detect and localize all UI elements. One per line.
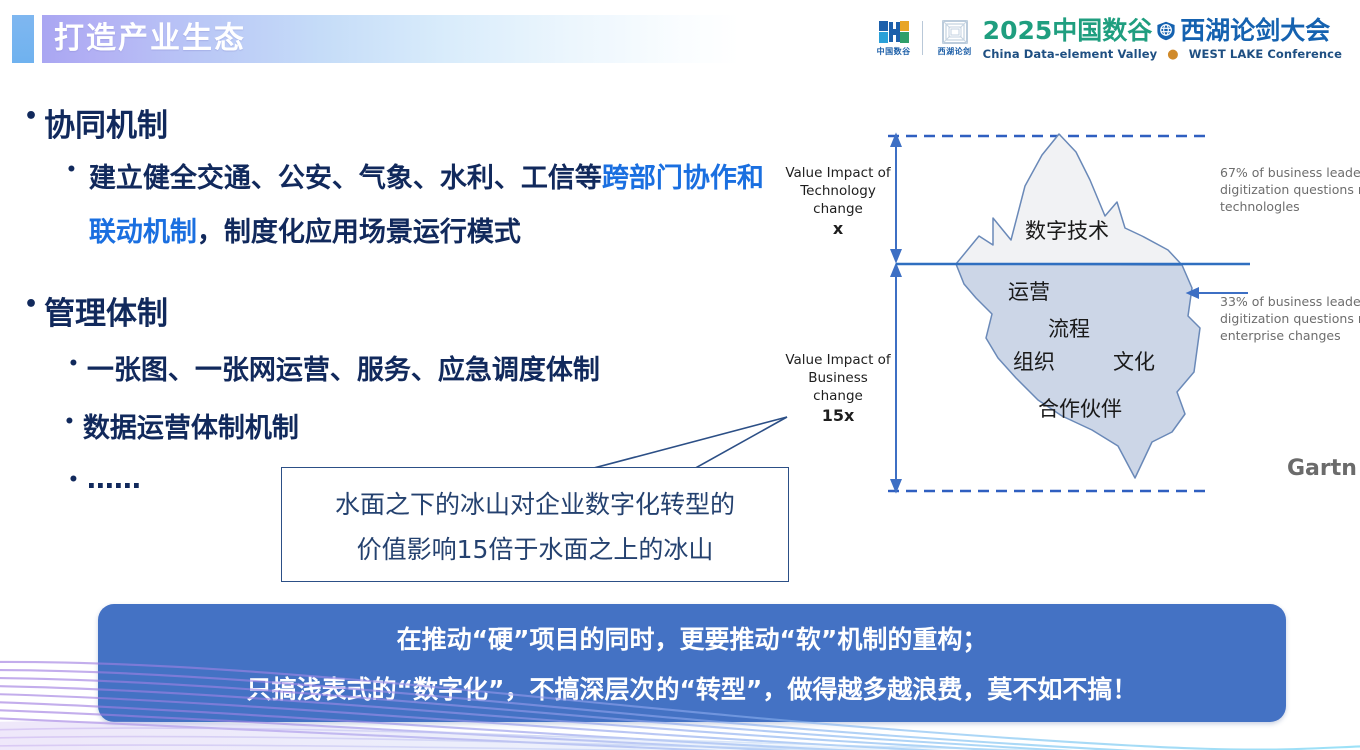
bullet-level2-mgmt-3: • …… bbox=[68, 464, 141, 496]
text-highlight-1: 跨 bbox=[602, 163, 629, 194]
note-business-percent: 33% of business leaders’ digitization qu… bbox=[1220, 293, 1360, 344]
callout-box: 水面之下的冰山对企业数字化转型的 价值影响15倍于水面之上的冰山 bbox=[281, 467, 789, 582]
page-title: 打造产业生态 bbox=[54, 15, 246, 63]
logo-subtitle-line: China Data-element Valley ● WEST LAKE Co… bbox=[983, 47, 1342, 61]
iceberg-label-partners: 合作伙伴 bbox=[1038, 393, 1122, 423]
iceberg-label-organization: 组织 bbox=[1013, 346, 1055, 376]
iceberg-diagram: Value Impact of Technology change x Valu… bbox=[780, 128, 1360, 503]
dim-tech-line1: Value Impact of bbox=[785, 165, 890, 181]
note-technology-percent: 67% of business leaders’ digitization qu… bbox=[1220, 164, 1360, 215]
iceberg-below-water bbox=[956, 264, 1200, 478]
callout-line-1: 水面之下的冰山对企业数字化转型的 bbox=[282, 482, 788, 527]
logo-subtitle-separator-dot: ● bbox=[1167, 48, 1178, 61]
logo-title-cn-westlake: 西湖论剑大会 bbox=[1180, 18, 1330, 43]
callout-line-2: 价值影响15倍于水面之上的冰山 bbox=[282, 527, 788, 572]
slide-title-bar: 打造产业生态 bbox=[0, 15, 740, 63]
bullet-glyph: • bbox=[68, 348, 79, 380]
callout-leader-lines bbox=[575, 415, 800, 475]
banner-line-2: 只搞浅表式的“数字化”，不搞深层次的“转型”，做得越多越浪费，莫不如不搞！ bbox=[247, 670, 1138, 706]
logo-subtitle-right: WEST LAKE Conference bbox=[1189, 47, 1342, 61]
iceberg-label-culture: 文化 bbox=[1113, 346, 1155, 376]
source-attribution: Gartn bbox=[1287, 456, 1357, 481]
bullet-text-mgmt-1: 一张图、一张网运营、服务、应急调度体制 bbox=[87, 348, 600, 387]
bullet-text-mgmt-2: 数据运营体制机制 bbox=[83, 406, 299, 445]
china-data-valley-logo: 中国数谷 bbox=[870, 20, 918, 57]
dim-label-technology: Value Impact of Technology change x bbox=[778, 164, 898, 238]
text-plain-post: ，制度化应用场景运行模式 bbox=[197, 217, 521, 248]
bullet-text-mgmt-3: …… bbox=[87, 464, 141, 495]
bullet-level1-collab: • 协同机制 bbox=[24, 100, 168, 145]
bullet-glyph: • bbox=[24, 100, 38, 134]
bullet-glyph: • bbox=[64, 406, 75, 438]
section-title-management: 管理体制 bbox=[44, 288, 168, 333]
logo-subtitle-left: China Data-element Valley bbox=[983, 47, 1158, 61]
iceberg-label-process: 流程 bbox=[1048, 313, 1090, 343]
bullet-level2-mgmt-2: • 数据运营体制机制 bbox=[64, 406, 299, 445]
banner-line-1: 在推动“硬”项目的同时，更要推动“软”机制的重构； bbox=[397, 620, 988, 656]
logo-title-cn-valley: 2025中国数谷 bbox=[983, 18, 1153, 43]
bullet-text-collab-1: 建立健全交通、公安、气象、水利、工信等跨部门协作和联动机制，制度化应用场景运行模… bbox=[89, 152, 766, 260]
callout-text: 水面之下的冰山对企业数字化转型的 价值影响15倍于水面之上的冰山 bbox=[282, 482, 788, 572]
dim-biz-multiplier: 15x bbox=[778, 407, 898, 425]
bullet-level1-management: • 管理体制 bbox=[24, 288, 168, 333]
china-data-valley-icon bbox=[879, 20, 909, 44]
west-lake-seal-icon bbox=[940, 20, 970, 44]
logo-wordmark: 2025中国数谷 西湖论剑大会 China Data-element Valle… bbox=[983, 18, 1342, 61]
conference-logo: 中国数谷 西湖论剑 2025中国数谷 西湖论剑大会 China Data-ele… bbox=[870, 18, 1342, 66]
logo-title-line: 2025中国数谷 西湖论剑大会 bbox=[983, 18, 1342, 43]
dim-tech-line3: change bbox=[813, 201, 863, 217]
globe-shield-icon bbox=[1156, 21, 1176, 41]
section-title-collab: 协同机制 bbox=[44, 100, 168, 145]
dim-tech-line2: Technology bbox=[800, 183, 876, 199]
bullet-glyph: • bbox=[24, 288, 38, 322]
bullet-glyph: • bbox=[68, 464, 79, 496]
dim-biz-line1: Value Impact of bbox=[785, 352, 890, 368]
iceberg-above-water bbox=[956, 134, 1182, 265]
logo-divider bbox=[922, 21, 923, 55]
bullet-level2-collab-1: • 建立健全交通、公安、气象、水利、工信等跨部门协作和联动机制，制度化应用场景运… bbox=[66, 152, 766, 260]
china-data-valley-label: 中国数谷 bbox=[877, 46, 911, 57]
title-accent-bar bbox=[12, 15, 34, 63]
summary-banner: 在推动“硬”项目的同时，更要推动“软”机制的重构； 只搞浅表式的“数字化”，不搞… bbox=[98, 604, 1286, 722]
iceberg-label-digital-technology: 数字技术 bbox=[1025, 215, 1109, 245]
text-plain-pre: 建立健全交通、公安、气象、水利、工信等 bbox=[89, 163, 602, 194]
west-lake-seal-logo: 西湖论剑 bbox=[931, 20, 979, 57]
bullet-glyph: • bbox=[66, 152, 77, 188]
dim-biz-line2: Business bbox=[808, 370, 868, 386]
west-lake-seal-label: 西湖论剑 bbox=[938, 46, 972, 57]
dim-biz-line3: change bbox=[813, 388, 863, 404]
dim-tech-multiplier: x bbox=[778, 220, 898, 238]
dim-label-business: Value Impact of Business change 15x bbox=[778, 351, 898, 425]
iceberg-label-operations: 运营 bbox=[1008, 276, 1050, 306]
bullet-level2-mgmt-1: • 一张图、一张网运营、服务、应急调度体制 bbox=[68, 348, 600, 387]
